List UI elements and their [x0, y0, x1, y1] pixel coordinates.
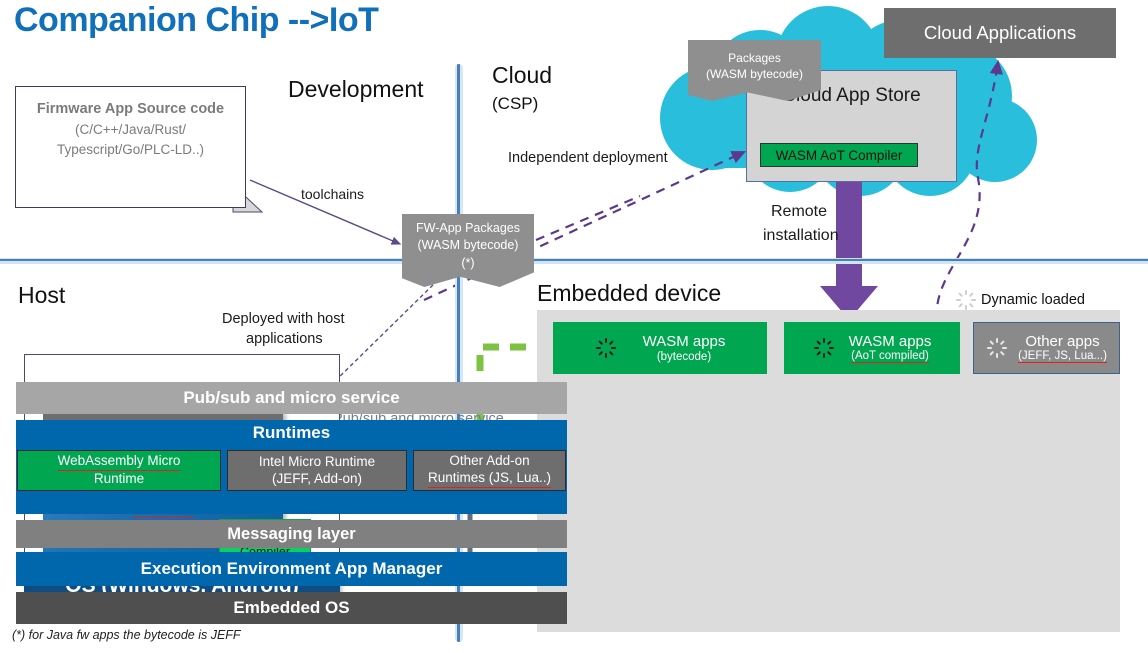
packages-cloud-line1: Packages	[728, 50, 781, 66]
embedded-app-1-sub: (bytecode)	[657, 351, 711, 363]
source-box-line2: (C/C++/Java/Rust/	[16, 120, 245, 140]
embedded-pubsub-label: Pub/sub and micro service	[183, 388, 399, 408]
horizontal-divider	[0, 258, 1148, 264]
fw-packages-line2: (WASM bytecode)	[418, 237, 519, 254]
firmware-source-code-box: Firmware App Source code (C/C++/Java/Rus…	[15, 86, 246, 208]
label-independent-deployment: Independent deployment	[508, 150, 668, 166]
embedded-app-wasm-bytecode[interactable]: WASM apps (bytecode)	[553, 322, 767, 374]
label-toolchains: toolchains	[301, 186, 364, 202]
embedded-app-manager-label: Execution Environment App Manager	[141, 559, 443, 579]
footnote: (*) for Java fw apps the bytecode is JEF…	[12, 628, 241, 642]
cloud-wasm-aot-compiler-box[interactable]: WASM AoT Compiler	[760, 143, 918, 167]
embedded-app-1-name: WASM apps	[643, 333, 726, 350]
runtime-intel-micro[interactable]: Intel Micro Runtime (JEFF, Add-on)	[227, 450, 407, 491]
section-heading-host: Host	[18, 282, 65, 309]
label-remote-installation-line1: Remote	[771, 203, 827, 221]
embedded-app-3-name: Other apps	[1025, 333, 1099, 350]
runtime-1-line1: WebAssembly Micro	[58, 453, 181, 471]
label-deployed-with-host-line1: Deployed with host	[222, 311, 345, 327]
runtime-other-addon[interactable]: Other Add-on Runtimes (JS, Lua..)	[413, 450, 566, 491]
label-deployed-with-host-line2: applications	[246, 331, 323, 347]
deployed-with-host-arrow	[328, 280, 438, 388]
spinner-icon	[595, 338, 615, 358]
embedded-app-other[interactable]: Other apps (JEFF, JS, Lua...)	[973, 322, 1120, 374]
runtime-webassembly-micro[interactable]: WebAssembly Micro Runtime	[17, 450, 221, 491]
embedded-messaging-label: Messaging layer	[227, 525, 355, 544]
label-remote-installation-line2: installation	[763, 227, 839, 245]
fw-app-packages-banner: FW-App Packages (WASM bytecode) (*)	[402, 214, 534, 287]
embedded-os-label: Embedded OS	[233, 598, 349, 618]
cloud-applications-box[interactable]: Cloud Applications	[884, 8, 1116, 58]
section-heading-embedded-device: Embedded device	[537, 280, 721, 307]
legend-dynamic-loaded: Dynamic loaded	[955, 290, 1085, 310]
embedded-runtimes-layer[interactable]: Runtimes WebAssembly Micro Runtime Intel…	[16, 420, 567, 514]
embedded-app-2-name: WASM apps	[849, 333, 932, 350]
embedded-app-manager[interactable]: Execution Environment App Manager	[16, 552, 567, 586]
embedded-runtimes-title: Runtimes	[16, 423, 567, 443]
spinner-icon	[986, 338, 1006, 358]
embedded-app-2-sub: (AoT compiled)	[851, 350, 929, 363]
cloud-applications-label: Cloud Applications	[924, 22, 1076, 44]
embedded-os[interactable]: Embedded OS	[16, 592, 567, 624]
embedded-app-3-sub: (JEFF, JS, Lua...)	[1018, 350, 1107, 363]
section-subheading-csp: (CSP)	[492, 94, 538, 114]
source-box-line3: Typescript/Go/PLC-LD..)	[16, 140, 245, 160]
page-title: Companion Chip -->IoT	[14, 1, 378, 40]
embedded-pubsub-layer[interactable]: Pub/sub and micro service	[16, 382, 567, 414]
runtime-3-line1: Other Add-on	[449, 453, 529, 470]
source-box-title: Firmware App Source code	[16, 99, 245, 120]
packages-cloud-line2: (WASM bytecode)	[706, 66, 803, 82]
section-heading-development: Development	[288, 76, 424, 103]
section-heading-cloud: Cloud	[492, 62, 552, 89]
runtime-1-line2: Runtime	[94, 471, 144, 488]
packages-cloud-banner: Packages (WASM bytecode)	[688, 40, 821, 101]
spinner-icon	[955, 290, 975, 310]
cloud-wasm-aot-compiler-label: WASM AoT Compiler	[776, 148, 903, 163]
embedded-app-wasm-aot[interactable]: WASM apps (AoT compiled)	[784, 322, 960, 374]
fw-packages-line1: FW-App Packages	[416, 220, 520, 237]
spinner-icon	[813, 338, 833, 358]
fw-packages-line3: (*)	[461, 255, 474, 272]
runtime-2-line1: Intel Micro Runtime	[259, 454, 375, 471]
runtime-3-line2: Runtimes (JS, Lua..)	[428, 470, 551, 488]
embedded-messaging-layer[interactable]: Messaging layer	[16, 520, 567, 548]
runtime-2-line2: (JEFF, Add-on)	[272, 471, 362, 488]
legend-dynamic-loaded-label: Dynamic loaded	[981, 292, 1085, 308]
fw-to-cloud-dash	[536, 196, 640, 240]
